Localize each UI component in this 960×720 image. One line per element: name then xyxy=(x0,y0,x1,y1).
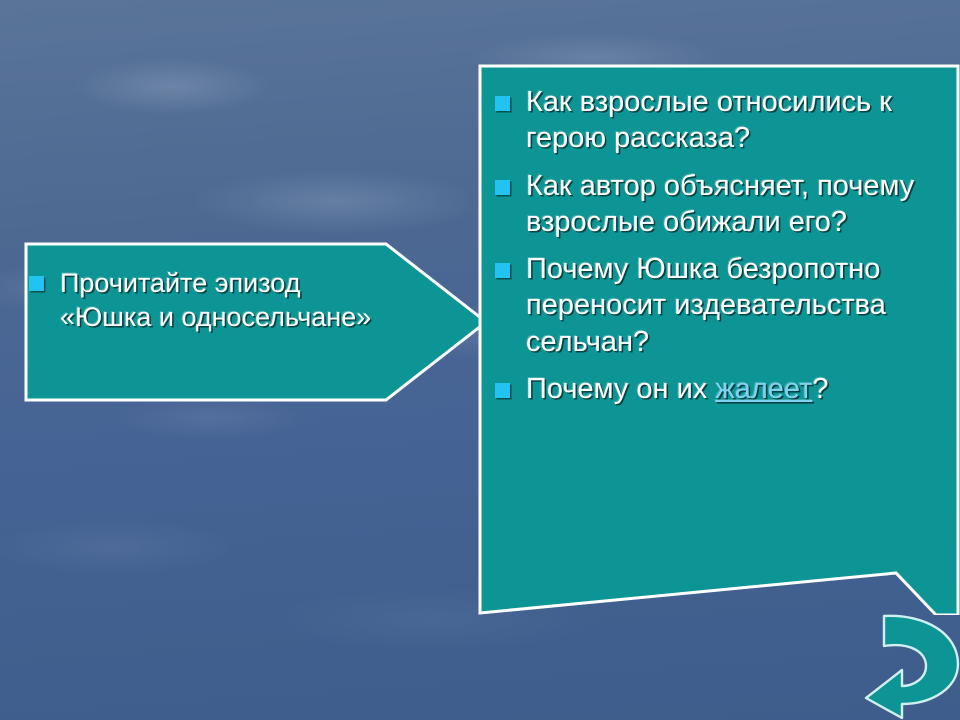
question-label-4-prefix: Почему он их xyxy=(526,373,715,405)
slide-canvas: Прочитайте эпизод «Юшка и односельчане» … xyxy=(0,0,960,720)
callout-arrow-shape: Прочитайте эпизод «Юшка и односельчане» xyxy=(24,240,490,404)
questions-panel: Как взрослые относились к герою рассказа… xyxy=(478,64,960,615)
question-label-4-suffix: ? xyxy=(812,373,828,405)
question-label-3: Почему Юшка безропотно переносит издеват… xyxy=(526,253,886,358)
list-item: Почему Юшка безропотно переносит издеват… xyxy=(490,251,942,360)
callout-text-block: Прочитайте эпизод «Юшка и односельчане» xyxy=(24,266,396,334)
bullet-square-icon xyxy=(495,180,510,195)
u-turn-arrow-icon xyxy=(862,612,960,720)
question-label-1: Как взрослые относились к герою рассказа… xyxy=(526,86,892,154)
list-item: Как взрослые относились к герою рассказа… xyxy=(490,84,942,157)
bullet-square-icon xyxy=(495,96,510,111)
callout-bullet-list: Прочитайте эпизод «Юшка и односельчане» xyxy=(24,266,396,334)
questions-bullet-list: Как взрослые относились к герою рассказа… xyxy=(490,84,942,407)
hyperlink-zhaleet[interactable]: жалеет xyxy=(715,373,812,405)
u-turn-arrow-decoration xyxy=(862,612,960,720)
callout-bullet-label: Прочитайте эпизод «Юшка и односельчане» xyxy=(60,268,371,332)
bullet-square-icon xyxy=(495,383,510,398)
question-label-2: Как автор объясняет, почему взрослые оби… xyxy=(526,170,914,238)
bullet-square-icon xyxy=(495,263,510,278)
questions-text-block: Как взрослые относились к герою рассказа… xyxy=(490,84,942,407)
bullet-square-icon xyxy=(29,276,44,291)
list-item: Почему он их жалеет? xyxy=(490,371,942,407)
list-item: Как автор объясняет, почему взрослые оби… xyxy=(490,168,942,241)
list-item: Прочитайте эпизод «Юшка и односельчане» xyxy=(24,266,396,334)
